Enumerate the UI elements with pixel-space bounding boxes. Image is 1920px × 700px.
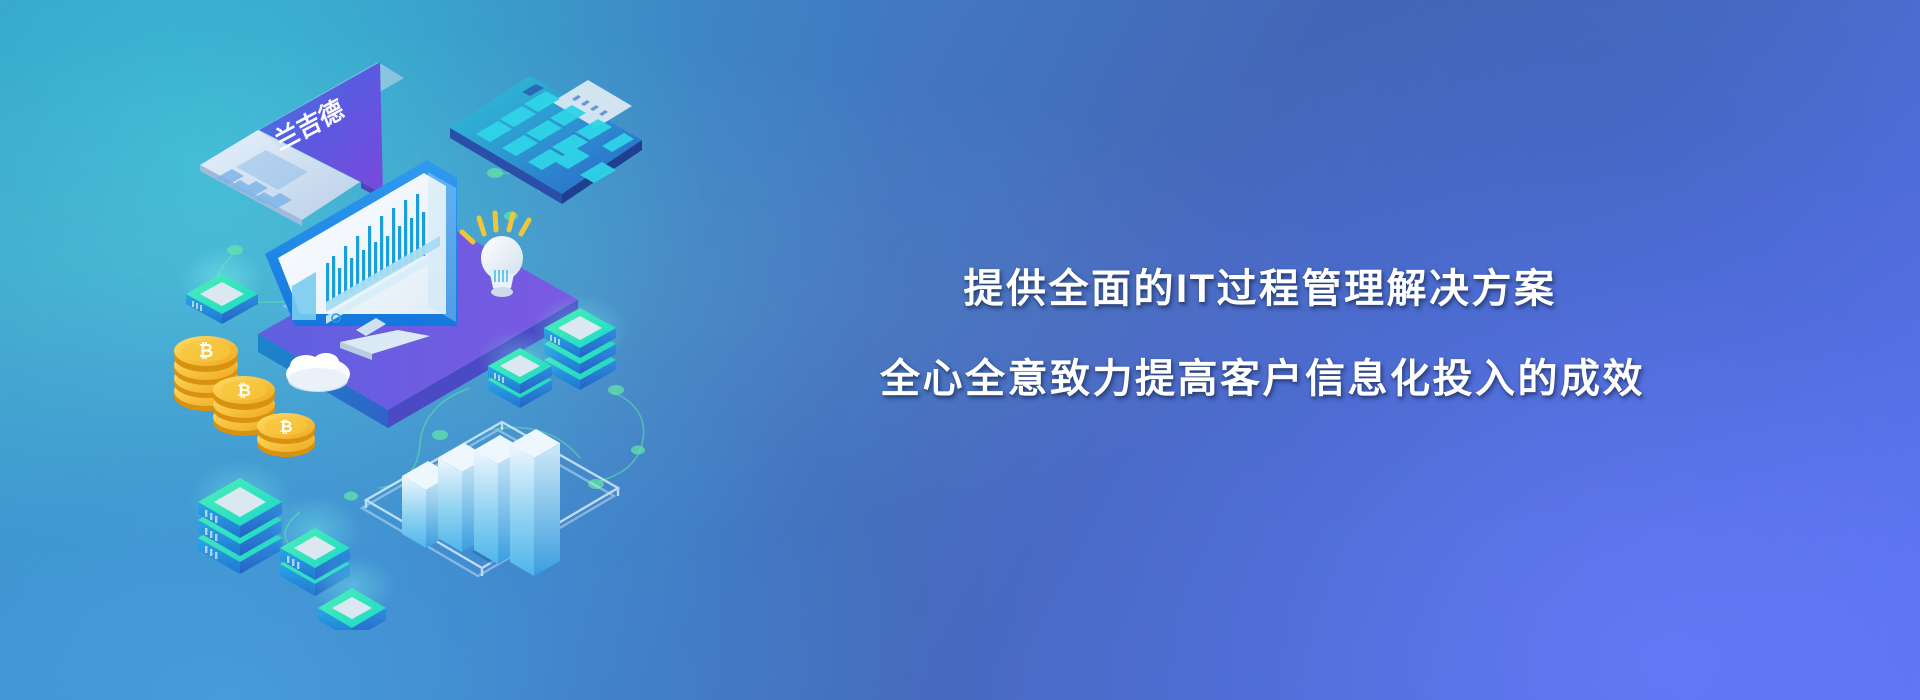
server-cluster-bottom-left — [188, 460, 396, 630]
hero-illustration: 兰吉德 — [140, 30, 680, 630]
coin-stack-right: ₿ — [257, 413, 315, 457]
headline-block: 提供全面的IT过程管理解决方案 全心全意致力提高客户信息化投入的成效 — [880, 268, 1640, 400]
server-block-left-small — [180, 246, 264, 324]
bar-4 — [510, 429, 560, 576]
banner-hero: 兰吉德 — [0, 0, 1920, 700]
svg-text:₿: ₿ — [279, 418, 292, 436]
headline-line-2: 全心全意致力提高客户信息化投入的成效 — [880, 358, 1640, 400]
bitcoin-symbol: ₿ — [199, 341, 214, 361]
bar-chart-illustration — [362, 422, 618, 576]
svg-text:₿: ₿ — [237, 381, 251, 400]
calculator-illustration — [450, 76, 642, 204]
headline-line-1: 提供全面的IT过程管理解决方案 — [880, 268, 1640, 310]
